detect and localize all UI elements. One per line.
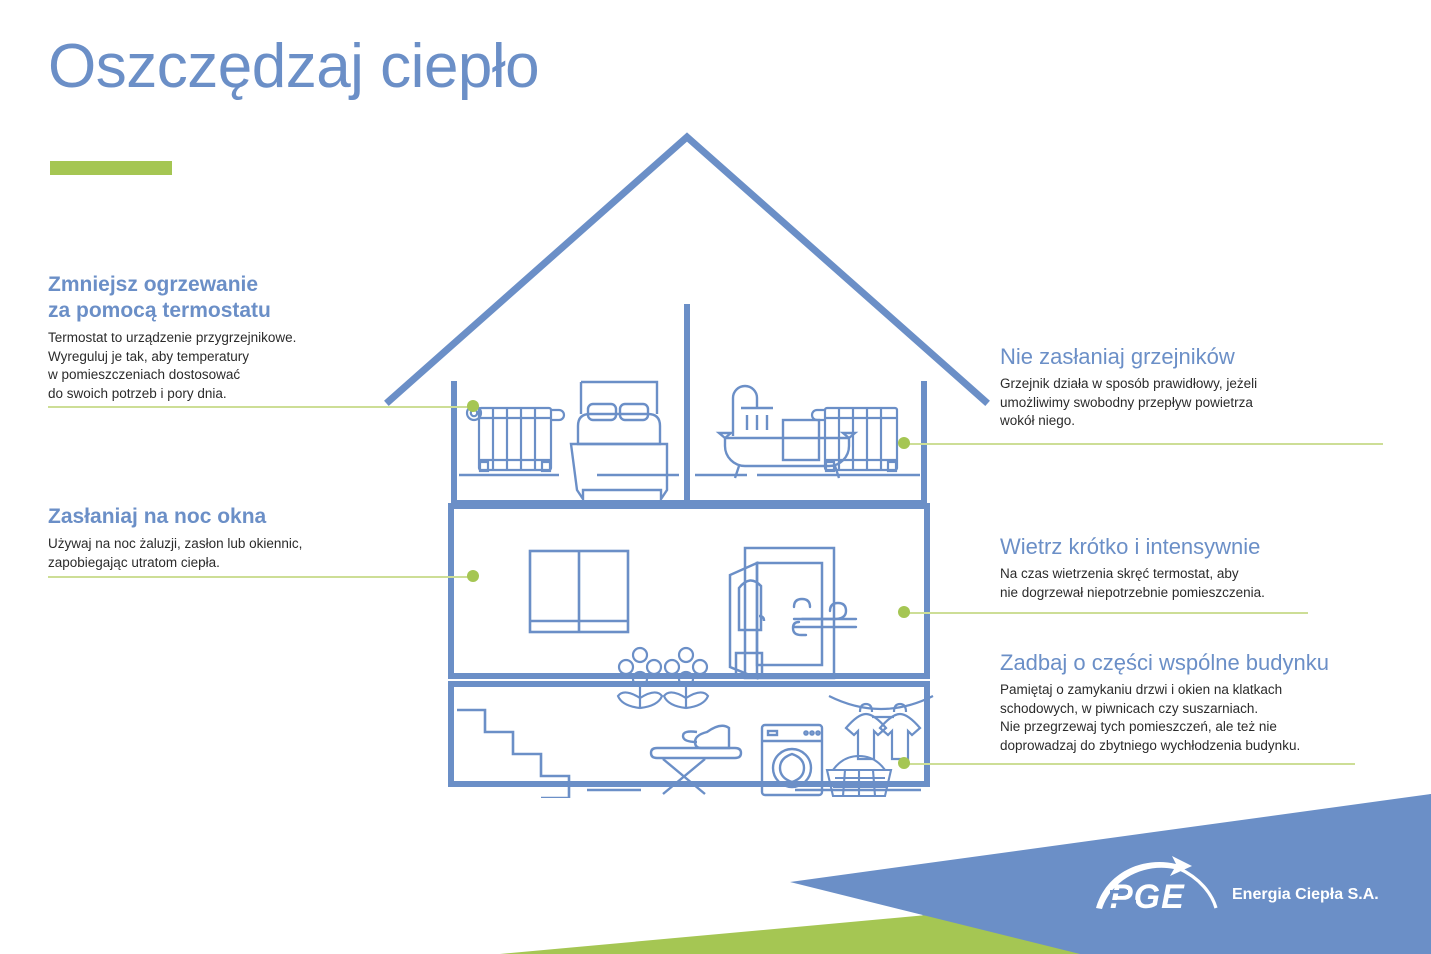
callout-title-curtains: Zasłaniaj na noc okna: [48, 504, 408, 530]
connector-dot-radiators: [898, 437, 910, 449]
connector-dot-thermostat: [467, 400, 479, 412]
open-door-icon: [730, 548, 834, 678]
svg-text:PGE: PGE: [1110, 878, 1185, 916]
callout-curtains: Zasłaniaj na noc okna Używaj na noc żalu…: [48, 504, 408, 572]
pge-logo: PGE Energia Ciepła S.A.: [1092, 850, 1392, 930]
callout-title-common-areas: Zadbaj o części wspólne budynku: [1000, 650, 1400, 676]
wind-icon: [793, 599, 856, 635]
callout-body-ventilation: Na czas wietrzenia skręć termostat, aby …: [1000, 565, 1390, 602]
callout-body-thermostat: Termostat to urządzenie przygrzejnikowe.…: [48, 329, 408, 403]
connector-line-curtains: [48, 576, 473, 578]
page-title: Oszczędzaj ciepło: [48, 30, 539, 104]
callout-radiators: Nie zasłaniaj grzejników Grzejnik działa…: [1000, 344, 1390, 431]
connector-line-radiators: [906, 443, 1383, 445]
callout-body-curtains: Używaj na noc żaluzji, zasłon lub okienn…: [48, 535, 408, 572]
radiator-icon: [812, 408, 897, 471]
callout-body-radiators: Grzejnik działa w sposób prawidłowy, jeż…: [1000, 375, 1390, 431]
bed-icon: [571, 382, 667, 499]
title-accent-bar: [50, 161, 172, 175]
logo-tagline: Energia Ciepła S.A.: [1232, 886, 1379, 904]
callout-title-ventilation: Wietrz krótko i intensywnie: [1000, 534, 1390, 560]
connector-line-thermostat: [48, 406, 473, 408]
callout-ventilation: Wietrz krótko i intensywnie Na czas wiet…: [1000, 534, 1390, 602]
connector-dot-ventilation: [898, 606, 910, 618]
radiator-with-thermostat-icon: [467, 406, 564, 471]
pge-arc-arrow-icon: PGE: [1092, 850, 1222, 920]
callout-title-radiators: Nie zasłaniaj grzejników: [1000, 344, 1390, 370]
connector-dot-curtains: [467, 570, 479, 582]
callout-title-thermostat: Zmniejsz ogrzewanie za pomocą termostatu: [48, 272, 408, 324]
connector-line-ventilation: [906, 612, 1308, 614]
window-icon: [530, 551, 628, 632]
callout-thermostat: Zmniejsz ogrzewanie za pomocą termostatu…: [48, 272, 408, 403]
